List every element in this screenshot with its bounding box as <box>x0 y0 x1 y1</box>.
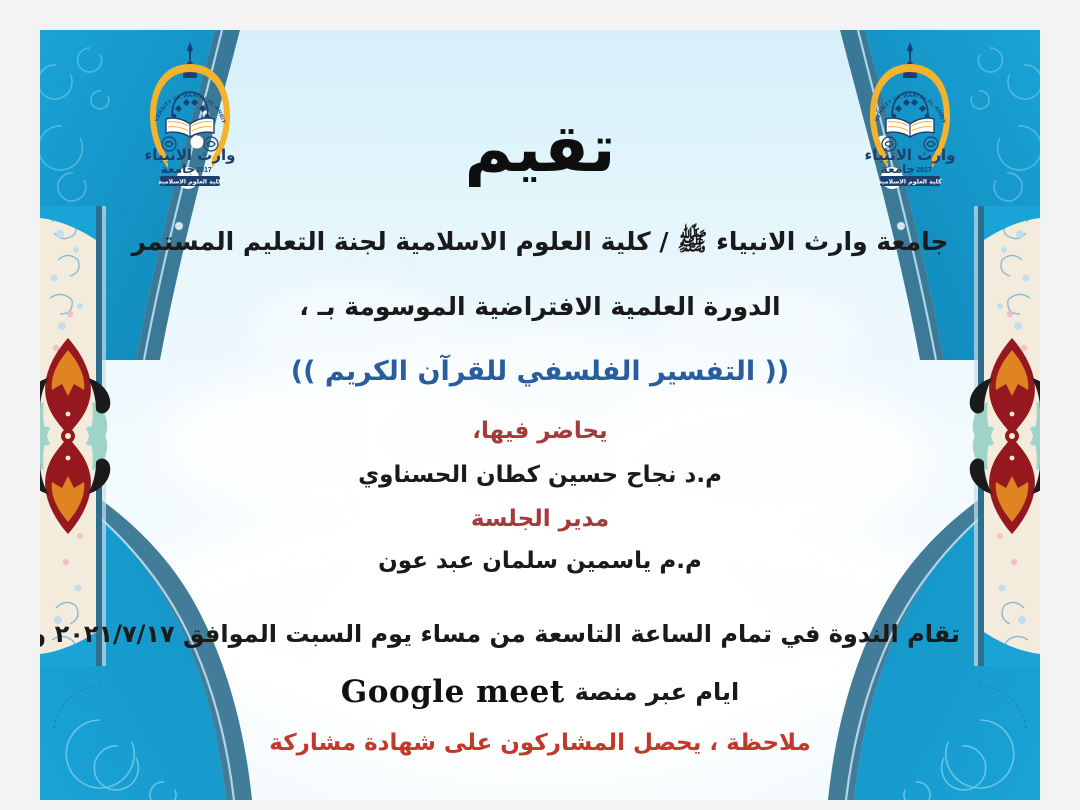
flyer-content: تقيم جامعة وارث الانبياء ﷺ / كلية العلوم… <box>120 30 960 800</box>
schedule-line: تقام الندوة في تمام الساعة التاسعة من مس… <box>120 620 960 648</box>
moderator-label: مدير الجلسة <box>120 506 960 532</box>
ornamental-border-left <box>40 206 112 666</box>
lecturer-name: م.د نجاح حسين كطان الحسناوي <box>120 462 960 488</box>
ornamental-border-right <box>968 206 1040 666</box>
organization-line: جامعة وارث الانبياء ﷺ / كلية العلوم الاس… <box>120 226 960 263</box>
platform-line: ايام عبر منصةGoogle meet <box>120 674 960 710</box>
seminar-topic: (( التفسير الفلسفي للقرآن الكريم )) <box>120 356 960 387</box>
lecturer-label: يحاضر فيها، <box>120 418 960 444</box>
moderator-name: م.م ياسمين سلمان عبد عون <box>120 548 960 574</box>
participation-note: ملاحظة ، يحصل المشاركون على شهادة مشاركة <box>120 730 960 756</box>
seminar-flyer: UNIVERSITY OF WARITH AL-ANBIYAA <box>40 30 1040 800</box>
flyer-title: تقيم <box>120 116 960 182</box>
platform-name: Google meet <box>341 674 575 710</box>
platform-prefix: ايام عبر منصة <box>575 678 740 706</box>
course-line: الدورة العلمية الافتراضية الموسومة بـ ، <box>120 292 960 321</box>
page-root: UNIVERSITY OF WARITH AL-ANBIYAA <box>0 0 1080 810</box>
